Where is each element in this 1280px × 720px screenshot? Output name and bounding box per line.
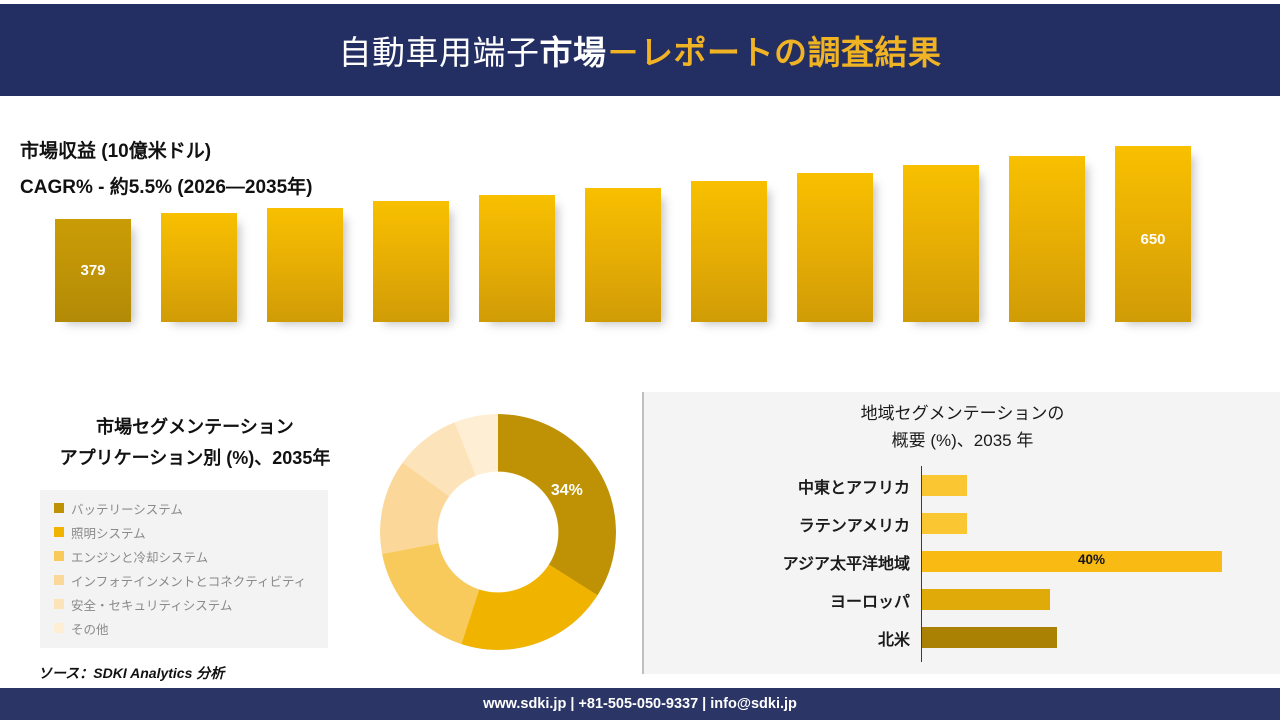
legend-item-2[interactable]: エンジンと冷却システム [40, 544, 328, 568]
revenue-bar-column: 2031年 [691, 181, 767, 322]
revenue-bar-value-2035年: 650 [1115, 231, 1191, 248]
revenue-bar-column: 2033年 [903, 165, 979, 322]
legend-item-0[interactable]: バッテリーシステム [40, 496, 328, 520]
revenue-bar-2030年 [585, 188, 661, 322]
region-segmentation-title: 地域セグメンテーションの 概要 (%)、2035 年 [644, 400, 1280, 454]
application-segmentation-title: 市場セグメンテーション アプリケーション別 (%)、2035年 [10, 412, 380, 474]
application-segmentation-panel: 市場セグメンテーション アプリケーション別 (%)、2035年 バッテリーシステ… [0, 392, 643, 674]
legend-item-5[interactable]: その他 [40, 616, 328, 640]
revenue-bar-column: 2026年 [161, 213, 237, 322]
revenue-bar-plot-area: 3792025年2026年2027年2028年2029年2030年2031年20… [55, 106, 1225, 366]
region-label-中東とアフリカ: 中東とアフリカ [644, 474, 910, 498]
segmentation-title-line1: 市場セグメンテーション [10, 412, 380, 443]
region-bar-アジア太平洋地域 [922, 551, 1222, 572]
revenue-bar-2034年 [1009, 156, 1085, 322]
region-label-アジア太平洋地域: アジア太平洋地域 [644, 550, 910, 574]
region-value-アジア太平洋地域: 40% [1078, 552, 1105, 567]
legend-item-label: バッテリーシステム [71, 499, 183, 518]
region-label-ラテンアメリカ: ラテンアメリカ [644, 512, 910, 536]
revenue-bar-value-2025年: 379 [55, 262, 131, 279]
region-bar-ラテンアメリカ [922, 513, 967, 534]
donut-value-label: 34% [551, 482, 583, 500]
region-row-ヨーロッパ: ヨーロッパ [644, 580, 1280, 618]
legend-item-label: 照明システム [71, 523, 146, 542]
region-row-北米: 北米 [644, 618, 1280, 656]
legend-item-label: 安全・セキュリティシステム [71, 595, 232, 614]
legend-item-label: その他 [71, 619, 109, 638]
legend-swatch-icon [54, 575, 64, 585]
revenue-bar-column: 2029年 [479, 195, 555, 322]
page-title-strong: 市場 [540, 34, 607, 71]
application-donut-chart: 34% [380, 414, 616, 650]
page-title-accent: －レポートの調査結果 [607, 34, 942, 71]
revenue-bar-2033年 [903, 165, 979, 322]
region-bar-北米 [922, 627, 1057, 648]
page-title: 自動車用端子市場－レポートの調査結果 [339, 26, 942, 74]
donut-ring [380, 414, 616, 650]
region-bar-ヨーロッパ [922, 589, 1050, 610]
region-row-ラテンアメリカ: ラテンアメリカ [644, 504, 1280, 542]
region-bar-中東とアフリカ [922, 475, 967, 496]
legend-item-3[interactable]: インフォテインメントとコネクティビティ [40, 568, 328, 592]
region-title-line2: 概要 (%)、2035 年 [644, 427, 1280, 454]
revenue-bar-column: 2028年 [373, 201, 449, 322]
revenue-bar-2032年 [797, 173, 873, 322]
region-label-北米: 北米 [644, 626, 910, 650]
legend-swatch-icon [54, 551, 64, 561]
footer-band: www.sdki.jp | +81-505-050-9337 | info@sd… [0, 688, 1280, 720]
page-title-plain: 自動車用端子 [339, 34, 540, 71]
revenue-bar-column: 2030年 [585, 188, 661, 322]
revenue-bar-2028年 [373, 201, 449, 322]
revenue-bar-column: 3792025年 [55, 219, 131, 322]
legend-swatch-icon [54, 599, 64, 609]
region-label-ヨーロッパ: ヨーロッパ [644, 588, 910, 612]
header-band: 自動車用端子市場－レポートの調査結果 [0, 4, 1280, 96]
region-bar-plot-area: 中東とアフリカラテンアメリカアジア太平洋地域40%ヨーロッパ北米 [644, 464, 1280, 664]
revenue-bar-chart: 市場収益 (10億米ドル) CAGR% - 約5.5% (2026―2035年)… [0, 96, 1280, 393]
revenue-bar-2027年 [267, 208, 343, 322]
legend-swatch-icon [54, 527, 64, 537]
segmentation-title-line2: アプリケーション別 (%)、2035年 [10, 443, 380, 474]
revenue-bar-column: 2032年 [797, 173, 873, 322]
revenue-bar-column: 6502035年 [1115, 146, 1191, 322]
region-row-中東とアフリカ: 中東とアフリカ [644, 466, 1280, 504]
revenue-bar-2031年 [691, 181, 767, 322]
revenue-bar-column: 2034年 [1009, 156, 1085, 322]
legend-swatch-icon [54, 503, 64, 513]
legend-item-label: インフォテインメントとコネクティビティ [71, 571, 306, 590]
region-title-line1: 地域セグメンテーションの [644, 400, 1280, 427]
legend-item-1[interactable]: 照明システム [40, 520, 328, 544]
region-segmentation-panel: 地域セグメンテーションの 概要 (%)、2035 年 中東とアフリカラテンアメリ… [643, 392, 1280, 674]
region-row-アジア太平洋地域: アジア太平洋地域40% [644, 542, 1280, 580]
legend-item-label: エンジンと冷却システム [71, 547, 208, 566]
legend-swatch-icon [54, 623, 64, 633]
legend-item-4[interactable]: 安全・セキュリティシステム [40, 592, 328, 616]
application-legend: バッテリーシステム照明システムエンジンと冷却システムインフォテインメントとコネク… [40, 490, 328, 648]
source-note: ソース：SDKI Analytics 分析 [38, 663, 224, 683]
revenue-bar-column: 2027年 [267, 208, 343, 322]
revenue-bar-2029年 [479, 195, 555, 322]
revenue-bar-2026年 [161, 213, 237, 322]
footer-contact-text: www.sdki.jp | +81-505-050-9337 | info@sd… [483, 696, 797, 712]
